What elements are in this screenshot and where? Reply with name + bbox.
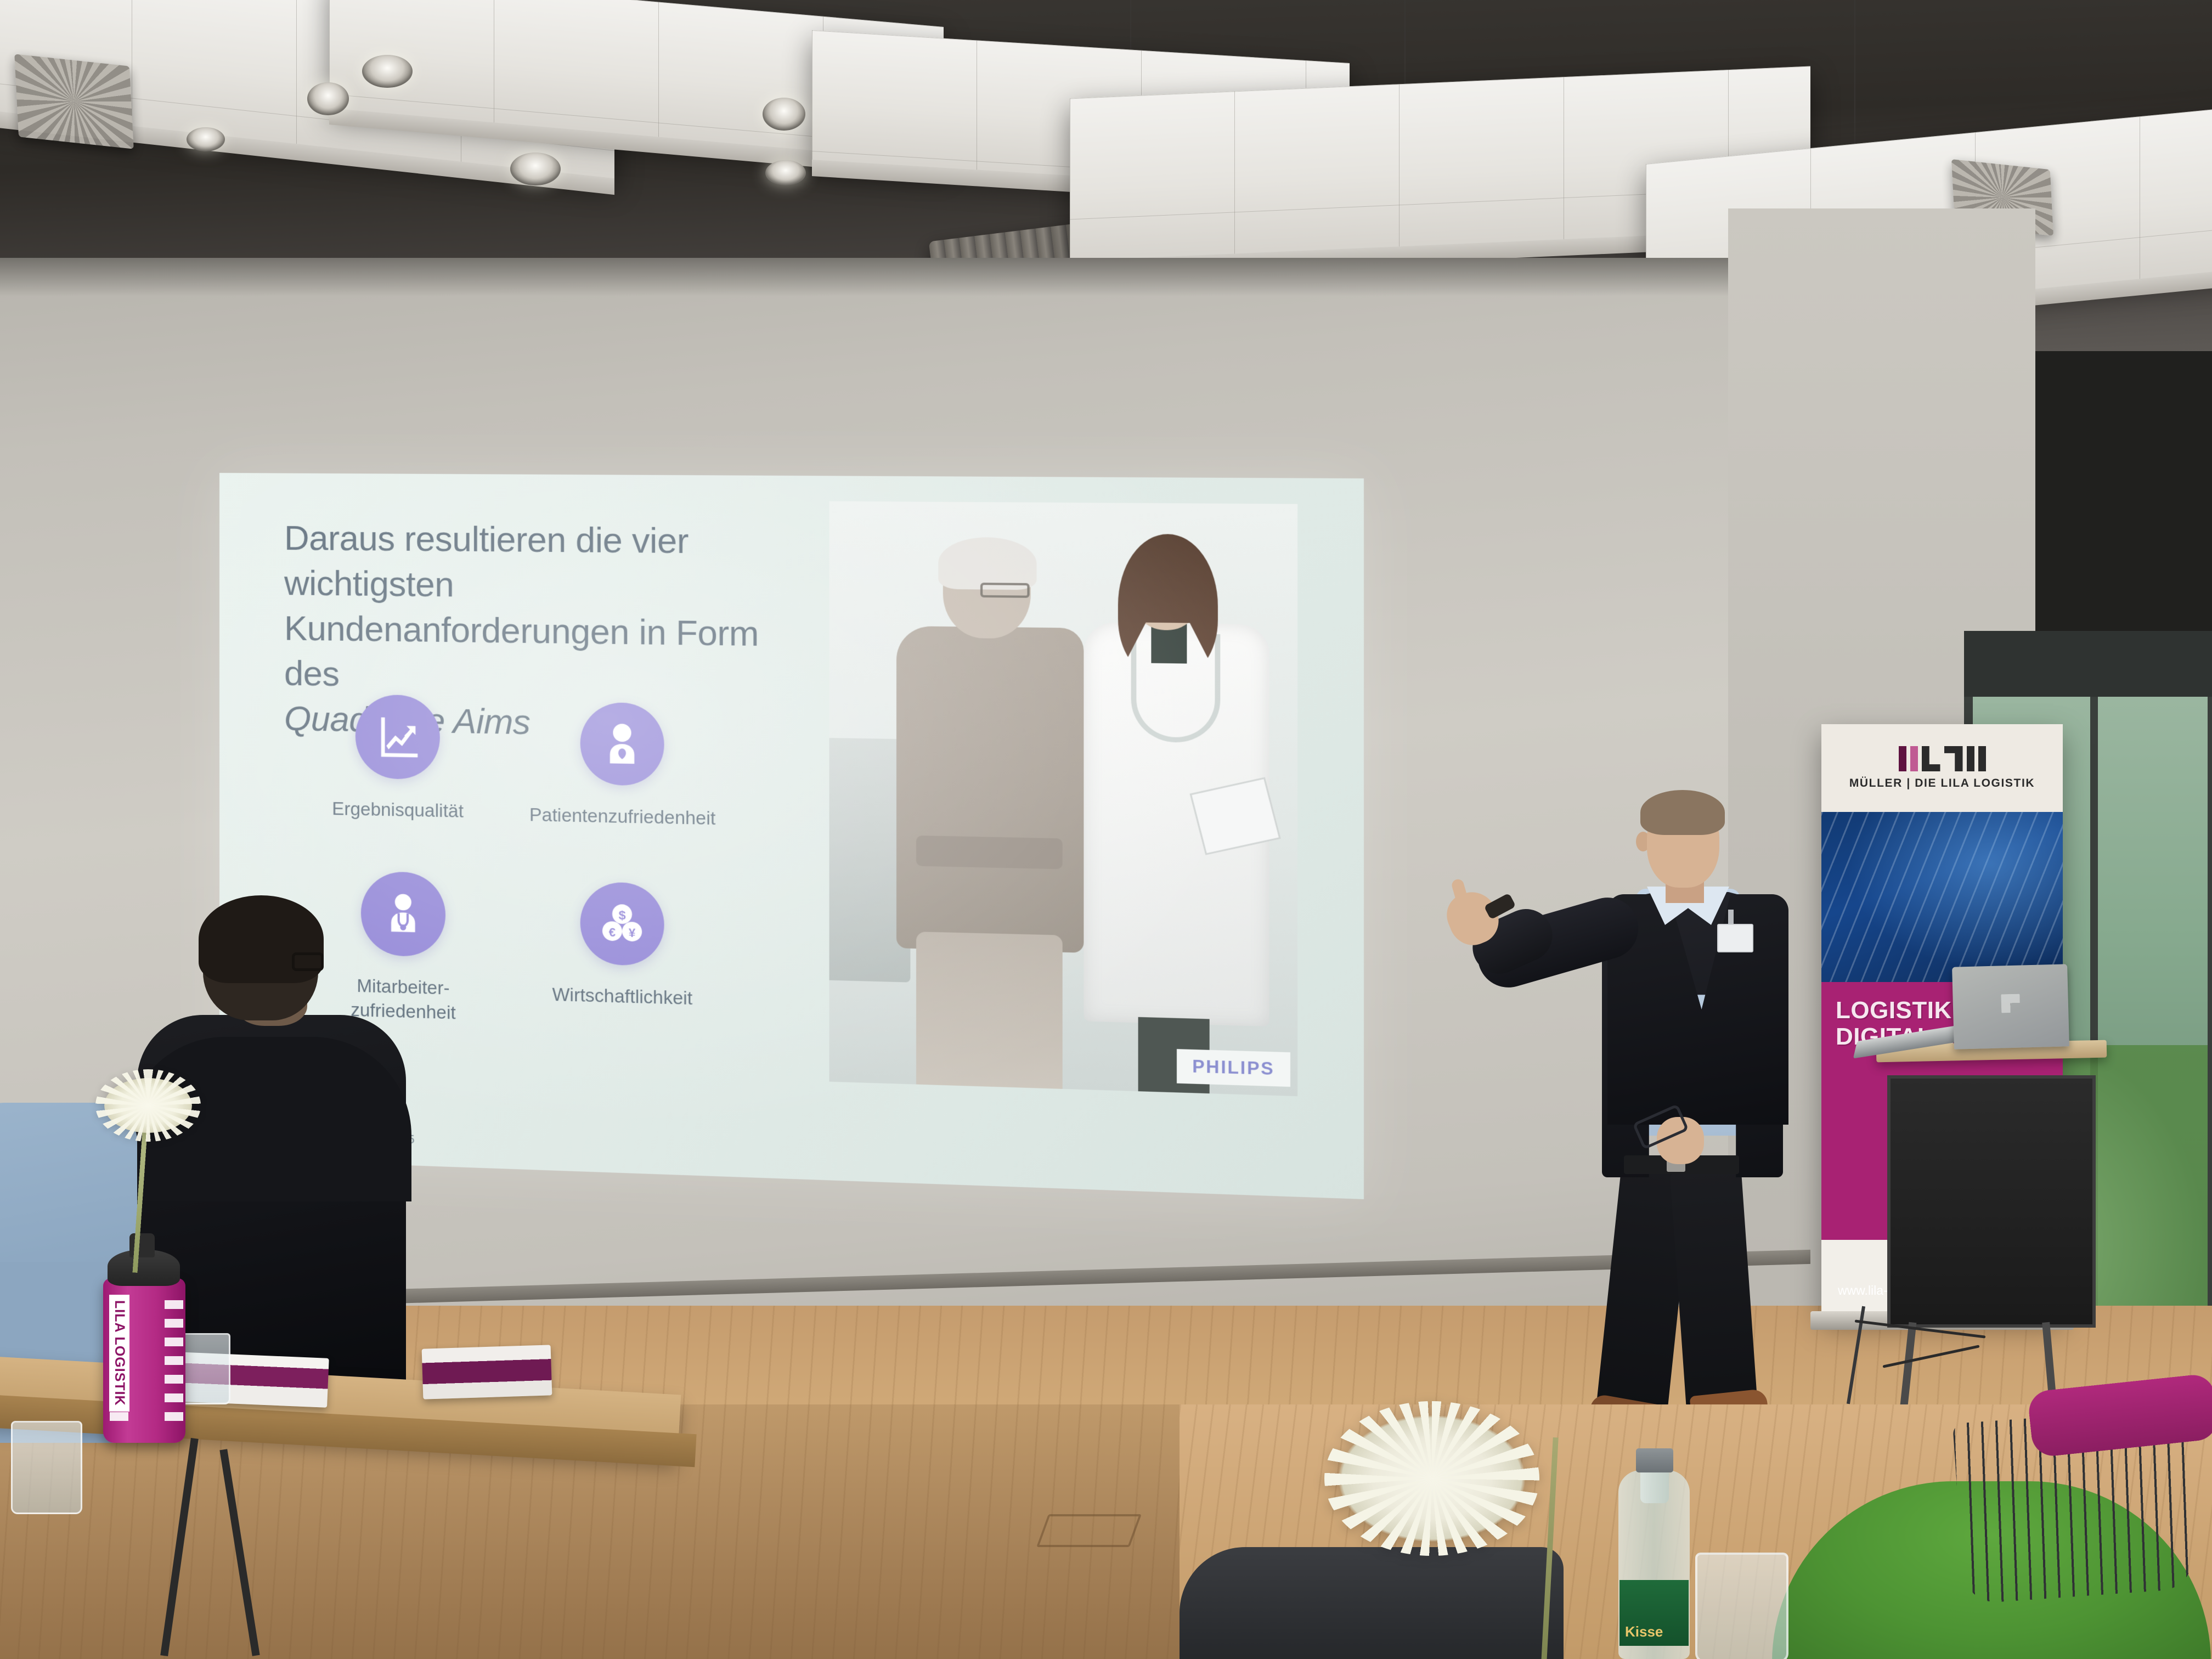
ceiling-downlight xyxy=(765,160,806,185)
air-vent-icon xyxy=(14,54,134,149)
badge-clip xyxy=(1728,910,1734,924)
windows-logo-icon xyxy=(2001,994,2020,1013)
window-header xyxy=(1964,631,2212,697)
floor-access-hatch xyxy=(1036,1514,1142,1547)
patient-person-icon xyxy=(580,702,664,786)
presenter-hair xyxy=(1640,790,1725,835)
patient-legs xyxy=(916,932,1063,1096)
banner-logo-area: MÜLLER | DIE LILA LOGISTIK xyxy=(1821,724,2063,812)
foreground-gerbera-flower xyxy=(1339,1415,1525,1542)
patient-robe-belt xyxy=(916,836,1063,869)
quadrant-wirtschaftlichkeit: $ € ¥ Wirtschaftlichkeit xyxy=(501,880,744,1012)
banner-image-digital xyxy=(1821,812,2063,988)
philips-logo-text: PHILIPS xyxy=(1192,1056,1274,1079)
lila-logistik-bars-icon xyxy=(1899,746,1986,771)
ceiling-downlight xyxy=(763,98,805,131)
conference-room-scene: Daraus resultieren die vier wichtigsten … xyxy=(0,0,2212,1659)
slide-title-line2: Kundenanforderungen in Form des xyxy=(284,609,759,693)
currency-coins-icon: $ € ¥ xyxy=(580,882,664,966)
presenter xyxy=(1443,785,1794,1421)
patient-robe xyxy=(896,626,1084,953)
ceiling-downlight xyxy=(362,55,413,88)
patient-glasses-icon xyxy=(980,583,1030,598)
slide-title-line1: Daraus resultieren die vier wichtigsten xyxy=(284,519,689,605)
svg-text:¥: ¥ xyxy=(629,926,635,940)
drinking-glass xyxy=(11,1421,82,1514)
bottle-label: Kisse xyxy=(1620,1580,1689,1646)
svg-text:€: € xyxy=(609,926,616,939)
attendee-glasses-icon xyxy=(292,952,324,971)
name-badge xyxy=(1717,924,1753,952)
philips-logo: PHILIPS xyxy=(1177,1049,1290,1087)
photo-patient xyxy=(893,541,1086,1090)
bottle-cap xyxy=(1636,1448,1673,1472)
banner-logo-text: MÜLLER | DIE LILA LOGISTIK xyxy=(1849,777,2035,790)
notebook xyxy=(422,1345,552,1399)
bottle-label-text: Kisse xyxy=(1625,1623,1663,1640)
ceiling-downlight xyxy=(187,127,225,151)
quadrant-ergebnisqualitaet: Ergebnisqualität xyxy=(279,693,518,825)
patient-hair xyxy=(938,537,1036,590)
slide-photo: PHILIPS xyxy=(830,501,1298,1097)
drinking-glass xyxy=(181,1333,230,1404)
quadrant-label: Patientenzufriedenheit xyxy=(501,802,744,831)
quadrant-label: Wirtschaftlichkeit xyxy=(501,981,744,1012)
quadrant-label: Ergebnisqualität xyxy=(279,795,518,824)
ceiling-hang-wire xyxy=(1854,0,1855,165)
photo-doctor xyxy=(1080,537,1277,1096)
bottle-brand-text: LILA LOGISTIK xyxy=(109,1295,129,1412)
wall-shadow xyxy=(0,258,1865,296)
presenter-monitor xyxy=(1887,1075,2096,1328)
foreground-dark-object xyxy=(1180,1547,1564,1659)
foreground-drinking-glass xyxy=(1695,1553,1788,1659)
ceiling-downlight xyxy=(510,153,561,185)
gerbera-flower xyxy=(104,1078,192,1133)
laptop[interactable] xyxy=(1952,964,2069,1049)
ceiling-downlight xyxy=(307,82,349,115)
growth-chart-icon xyxy=(356,695,440,780)
bottle-logo-bars-icon xyxy=(165,1300,183,1421)
quadrant-patientenzufriedenheit: Patientenzufriedenheit xyxy=(501,701,744,831)
svg-text:$: $ xyxy=(618,907,625,922)
